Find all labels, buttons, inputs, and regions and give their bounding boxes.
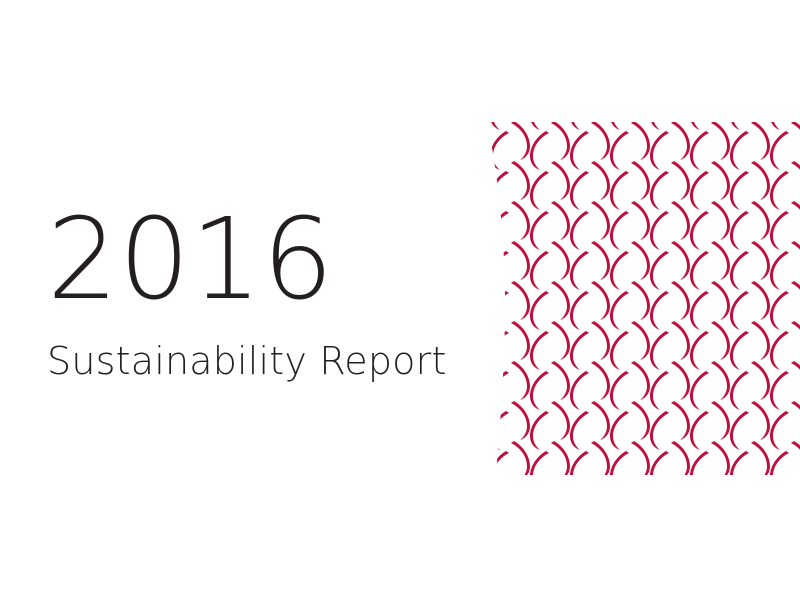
crescent-pattern-panel: [470, 122, 800, 475]
report-cover-page: 2016 Sustainability Report: [0, 0, 800, 600]
pattern-fill: [470, 122, 800, 475]
cover-year: 2016: [47, 216, 447, 306]
crescent-pattern-svg: [470, 122, 800, 475]
cover-subtitle: Sustainability Report: [47, 342, 447, 380]
cover-title-block: 2016 Sustainability Report: [47, 216, 447, 380]
